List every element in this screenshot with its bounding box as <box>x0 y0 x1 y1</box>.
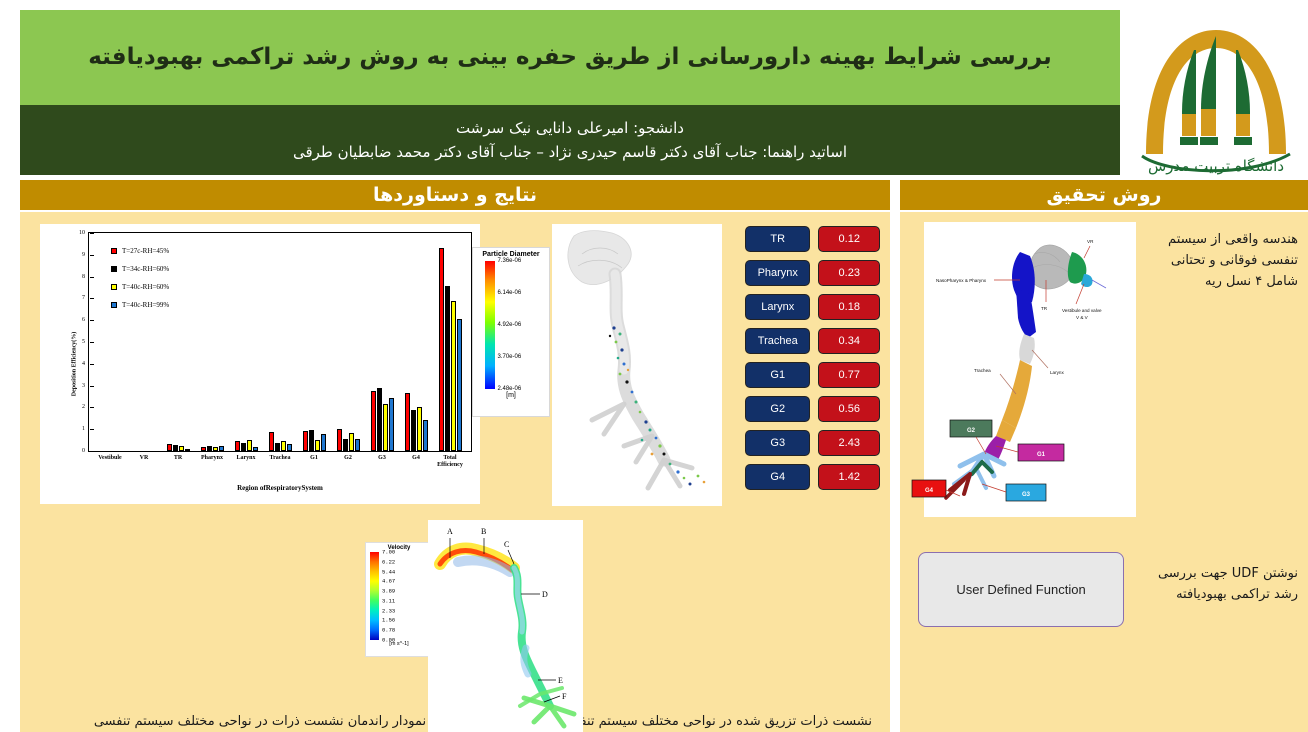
table-cell-region: G4 <box>745 464 810 490</box>
deposition-efficiency-chart: Deposition Efficiency(%) 012345678910 Ve… <box>40 224 480 504</box>
chart-x-tick: G2 <box>344 455 352 462</box>
table-cell-region: Larynx <box>745 294 810 320</box>
udf-label: User Defined Function <box>956 582 1085 597</box>
table-row: G41.42 <box>745 464 880 490</box>
chart-x-tick: Vestibule <box>98 455 121 462</box>
chart-bar <box>349 433 354 451</box>
velocity-tick: 0.78 <box>382 627 395 634</box>
chart-caption: نمودار راندمان نشست ذرات در نواحی مختلف … <box>50 712 470 732</box>
chart-bar <box>303 431 308 451</box>
velocity-colorbar <box>370 552 379 640</box>
legend-swatch <box>111 284 117 290</box>
section-title-results: نتایج و دستاوردها <box>373 184 537 206</box>
velocity-tick: 3.11 <box>382 597 395 604</box>
flow-field-image: A B C D E F <box>428 520 583 732</box>
method-panel: VR NasoPharynx & Pharynx TR Vestibule an… <box>900 212 1308 732</box>
table-row: Larynx0.18 <box>745 294 880 320</box>
airflow-streamline-render-icon: A B C D E F <box>428 520 583 732</box>
table-cell-region: Pharynx <box>745 260 810 286</box>
chart-category-group: G3 <box>365 233 399 451</box>
chart-x-tick: Larynx <box>236 455 255 462</box>
chart-bar <box>179 446 184 451</box>
chart-category-group: TotalEfficiency <box>433 233 467 451</box>
chart-y-tick: 8 <box>82 274 89 280</box>
chart-legend-item: T=27c-RH=45% <box>111 247 169 255</box>
table-cell-value: 2.43 <box>818 430 880 456</box>
legend-label: T=27c-RH=45% <box>122 247 169 255</box>
flow-label-d: D <box>542 590 548 599</box>
table-cell-value: 0.34 <box>818 328 880 354</box>
table-cell-value: 1.42 <box>818 464 880 490</box>
table-cell-value: 0.56 <box>818 396 880 422</box>
chart-y-tick: 5 <box>82 339 89 345</box>
particle-diameter-unit: [m] <box>506 392 516 399</box>
chart-x-axis-label: Region ofRespiratorySystem <box>88 484 472 492</box>
chart-bar <box>219 446 224 451</box>
particle-diameter-legend: Particle Diameter 7.36e-066.14e-064.92e-… <box>472 247 550 417</box>
chart-category-group: G1 <box>297 233 331 451</box>
geo-label-vr: VR <box>1087 239 1094 244</box>
chart-bar <box>235 441 240 451</box>
table-row: G32.43 <box>745 430 880 456</box>
chart-bar <box>287 444 292 451</box>
chart-bar <box>275 443 280 451</box>
chart-bar <box>439 248 444 451</box>
chart-y-tick: 4 <box>82 361 89 367</box>
velocity-tick: 6.22 <box>382 558 395 565</box>
chart-bar <box>411 410 416 451</box>
authors-bar: دانشجو: امیرعلی دانایی نیک سرشت اساتید ر… <box>20 105 1120 175</box>
chart-bar <box>247 440 252 451</box>
page-title: بررسی شرایط بهینه دارورسانی از طریق حفره… <box>74 43 1066 72</box>
geometry-caption: هندسه واقعی از سیستم تنفسی فوقانی و تحتا… <box>1140 230 1298 292</box>
table-cell-region: Trachea <box>745 328 810 354</box>
chart-x-tick: VR <box>140 455 149 462</box>
chart-x-tick: TotalEfficiency <box>437 455 463 468</box>
tarbiat-modares-logo-icon: دانشگاه تربیت مدرس <box>1128 6 1303 178</box>
geo-label-vestibule: Vestibule and valve <box>1062 308 1102 313</box>
flow-label-a: A <box>447 527 453 536</box>
chart-bar <box>457 319 462 451</box>
svg-text:دانشگاه تربیت مدرس: دانشگاه تربیت مدرس <box>1148 157 1284 175</box>
table-cell-region: TR <box>745 226 810 252</box>
chart-category-group: G2 <box>331 233 365 451</box>
table-cell-region: G2 <box>745 396 810 422</box>
chart-bar <box>241 443 246 451</box>
table-row: G20.56 <box>745 396 880 422</box>
geo-label-tr: TR <box>1041 306 1048 311</box>
chart-bar <box>383 404 388 451</box>
table-cell-value: 0.18 <box>818 294 880 320</box>
section-title-method: روش تحقیق <box>1047 184 1162 206</box>
respiratory-geometry-image: VR NasoPharynx & Pharynx TR Vestibule an… <box>924 222 1136 517</box>
chart-bar <box>185 449 190 451</box>
chart-bar <box>315 440 320 451</box>
geo-tag-g4: G4 <box>925 488 934 494</box>
flow-label-e: E <box>558 676 563 685</box>
chart-bar <box>201 447 206 451</box>
deposition-caption: نشست ذرات تزریق شده در نواحی مختلف سیستم… <box>540 712 890 732</box>
velocity-tick: 2.33 <box>382 607 395 614</box>
velocity-tick: 7.00 <box>382 549 395 556</box>
chart-y-tick: 7 <box>82 295 89 301</box>
chart-bar <box>281 441 286 451</box>
chart-bar <box>309 430 314 451</box>
chart-bar <box>371 391 376 451</box>
geo-label-trachea: Trachea <box>974 368 991 373</box>
udf-caption: نوشتن UDF جهت بررسی رشد تراکمی بهبودیافت… <box>1136 564 1298 606</box>
table-row: G10.77 <box>745 362 880 388</box>
chart-bar <box>343 439 348 451</box>
chart-category-group: Larynx <box>229 233 263 451</box>
particle-diameter-tick: 4.92e-06 <box>498 322 522 328</box>
legend-swatch <box>111 302 117 308</box>
chart-legend-item: T=40c-RH=99% <box>111 301 169 309</box>
velocity-tick: 1.56 <box>382 617 395 624</box>
chart-bar <box>269 432 274 451</box>
geo-label-naso: NasoPharynx & Pharynx <box>936 278 987 283</box>
chart-bar <box>321 434 326 451</box>
geo-tag-g3: G3 <box>1022 492 1031 498</box>
chart-y-tick: 1 <box>82 426 89 432</box>
velocity-tick: 0.00 <box>382 637 395 644</box>
legend-label: T=34c-RH=60% <box>122 265 169 273</box>
university-logo: دانشگاه تربیت مدرس <box>1128 6 1303 178</box>
chart-legend: T=27c-RH=45%T=34c-RH=60%T=40c-RH=60%T=40… <box>111 247 169 319</box>
chart-x-tick: G4 <box>412 455 420 462</box>
flow-label-c: C <box>504 540 509 549</box>
poster-title-bar: بررسی شرایط بهینه دارورسانی از طریق حفره… <box>20 10 1120 105</box>
chart-bar <box>253 447 258 451</box>
particle-diameter-title: Particle Diameter <box>482 251 539 258</box>
chart-legend-item: T=34c-RH=60% <box>111 265 169 273</box>
chart-bar <box>377 388 382 451</box>
chart-category-group: Pharynx <box>195 233 229 451</box>
particle-diameter-tick: 3.70e-06 <box>498 354 522 360</box>
table-row: Trachea0.34 <box>745 328 880 354</box>
chart-x-tick: G1 <box>310 455 318 462</box>
student-line: دانشجو: امیرعلی دانایی نیک سرشت <box>456 119 684 137</box>
chart-legend-item: T=40c-RH=60% <box>111 283 169 291</box>
chart-y-axis-label: Deposition Efficiency(%) <box>71 332 77 397</box>
particle-diameter-colorbar <box>485 261 495 389</box>
chart-y-tick: 6 <box>82 317 89 323</box>
chart-x-tick: Pharynx <box>201 455 223 462</box>
legend-swatch <box>111 266 117 272</box>
velocity-tick: 5.44 <box>382 568 395 575</box>
chart-bar <box>213 447 218 451</box>
legend-swatch <box>111 248 117 254</box>
chart-x-tick: G3 <box>378 455 386 462</box>
flow-label-b: B <box>481 527 486 536</box>
flow-label-f: F <box>562 692 567 701</box>
chart-bar <box>355 439 360 451</box>
velocity-legend: Velocity 7.006.225.444.673.893.112.331.5… <box>365 542 433 657</box>
deposition-table: TR0.12Pharynx0.23Larynx0.18Trachea0.34G1… <box>745 226 880 498</box>
udf-box: User Defined Function <box>918 552 1124 627</box>
chart-x-tick: TR <box>174 455 182 462</box>
table-row: TR0.12 <box>745 226 880 252</box>
geo-label-larynx: Larynx <box>1050 370 1064 375</box>
chart-bar <box>167 444 172 451</box>
table-cell-region: G1 <box>745 362 810 388</box>
velocity-tick: 4.67 <box>382 578 395 585</box>
particle-diameter-tick: 2.48e-06 <box>498 386 522 392</box>
deposition-3d-image <box>552 224 722 506</box>
velocity-ticks: 7.006.225.444.673.893.112.331.560.780.00 <box>382 552 428 640</box>
section-header-results: نتایج و دستاوردها <box>20 180 890 210</box>
chart-bar <box>389 398 394 451</box>
particle-diameter-ticks: 7.36e-066.14e-064.92e-063.70e-062.48e-06 <box>498 261 538 389</box>
chart-plot-area: 012345678910 VestibuleVRTRPharynxLarynxT… <box>88 232 472 452</box>
legend-label: T=40c-RH=99% <box>122 301 169 309</box>
geo-label-vestibule-2: V & V <box>1076 315 1089 320</box>
table-cell-value: 0.23 <box>818 260 880 286</box>
legend-label: T=40c-RH=60% <box>122 283 169 291</box>
table-cell-region: G3 <box>745 430 810 456</box>
particle-diameter-tick: 6.14e-06 <box>498 290 522 296</box>
table-row: Pharynx0.23 <box>745 260 880 286</box>
table-cell-value: 0.12 <box>818 226 880 252</box>
geo-tag-g1: G1 <box>1037 452 1046 458</box>
chart-bar <box>451 301 456 451</box>
chart-category-group: G4 <box>399 233 433 451</box>
particle-diameter-tick: 7.36e-06 <box>498 258 522 264</box>
chart-y-tick: 9 <box>82 252 89 258</box>
respiratory-geometry-icon: VR NasoPharynx & Pharynx TR Vestibule an… <box>924 222 1136 517</box>
velocity-tick: 3.89 <box>382 588 395 595</box>
chart-bar <box>207 446 212 451</box>
results-panel: Deposition Efficiency(%) 012345678910 Ve… <box>20 212 890 732</box>
chart-bar <box>445 286 450 451</box>
chart-y-tick: 3 <box>82 383 89 389</box>
poster-root: بررسی شرایط بهینه دارورسانی از طریق حفره… <box>0 0 1308 732</box>
chart-y-tick: 2 <box>82 404 89 410</box>
chart-bar <box>337 429 342 451</box>
geo-tag-g2: G2 <box>967 428 976 434</box>
airway-particle-render-icon <box>552 224 722 506</box>
chart-y-tick: 10 <box>79 230 89 236</box>
supervisors-line: اساتید راهنما: جناب آقای دکتر قاسم حیدری… <box>293 143 847 161</box>
chart-y-tick: 0 <box>82 448 89 454</box>
chart-bar <box>173 445 178 451</box>
chart-category-group: Trachea <box>263 233 297 451</box>
chart-bar <box>417 407 422 451</box>
chart-x-tick: Trachea <box>270 455 291 462</box>
section-header-method: روش تحقیق <box>900 180 1308 210</box>
table-cell-value: 0.77 <box>818 362 880 388</box>
chart-bar <box>405 393 410 451</box>
chart-bar <box>423 420 428 451</box>
